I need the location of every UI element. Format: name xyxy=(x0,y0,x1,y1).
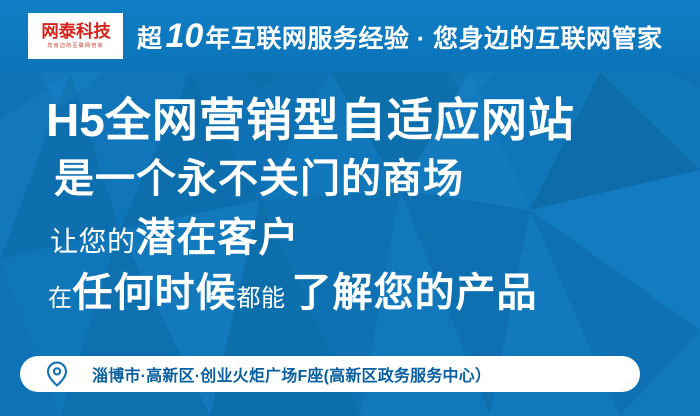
headline-line-3-light: 让您的 xyxy=(50,220,136,264)
address-text: 淄博市·高新区·创业火炬广场F座(高新区政务服务中心） xyxy=(92,362,491,386)
headline-line-1: H5全网营销型自适应网站 xyxy=(0,94,700,146)
headline-line-4: 在 任何时候 都能 了解您的产品 xyxy=(0,270,700,322)
headline-line-4-bold-1: 任何时候 xyxy=(73,270,237,316)
company-logo: 网泰科技 您身边的互联网管家 xyxy=(28,13,123,59)
headline-block: H5全网营销型自适应网站 是一个永不关门的商场 让您的 潜在客户 在 任何时候 … xyxy=(0,72,700,322)
header-tagline: 超 10 年互联网服务经验 · 您身边的互联网管家 xyxy=(137,17,663,56)
tagline-years-number: 10 xyxy=(163,17,206,56)
tagline-suffix: 年互联网服务经验 · 您身边的互联网管家 xyxy=(205,19,662,55)
headline-line-3-bold: 潜在客户 xyxy=(136,216,300,260)
tagline-prefix: 超 xyxy=(137,19,163,55)
headline-line-2-text: 是一个永不关门的商场 xyxy=(54,156,464,202)
headline-line-4-bold-2: 了解您的产品 xyxy=(292,270,538,316)
logo-company-name: 网泰科技 xyxy=(41,23,110,42)
logo-subtitle: 您身边的互联网管家 xyxy=(47,42,104,50)
headline-line-4-light-1: 在 xyxy=(48,276,73,322)
headline-line-1-lead: H5 xyxy=(46,94,105,146)
banner-header: 网泰科技 您身边的互联网管家 超 10 年互联网服务经验 · 您身边的互联网管家 xyxy=(0,0,700,72)
headline-line-4-light-2: 都能 xyxy=(237,276,286,322)
headline-line-1-text: 全网营销型自适应网站 xyxy=(105,94,575,146)
address-bar: 淄博市·高新区·创业火炬广场F座(高新区政务服务中心） xyxy=(20,356,640,392)
promo-banner: 网泰科技 您身边的互联网管家 超 10 年互联网服务经验 · 您身边的互联网管家… xyxy=(0,0,700,416)
headline-line-3: 让您的 潜在客户 xyxy=(0,216,700,264)
headline-line-2: 是一个永不关门的商场 xyxy=(0,156,700,202)
location-pin-icon xyxy=(46,361,68,387)
